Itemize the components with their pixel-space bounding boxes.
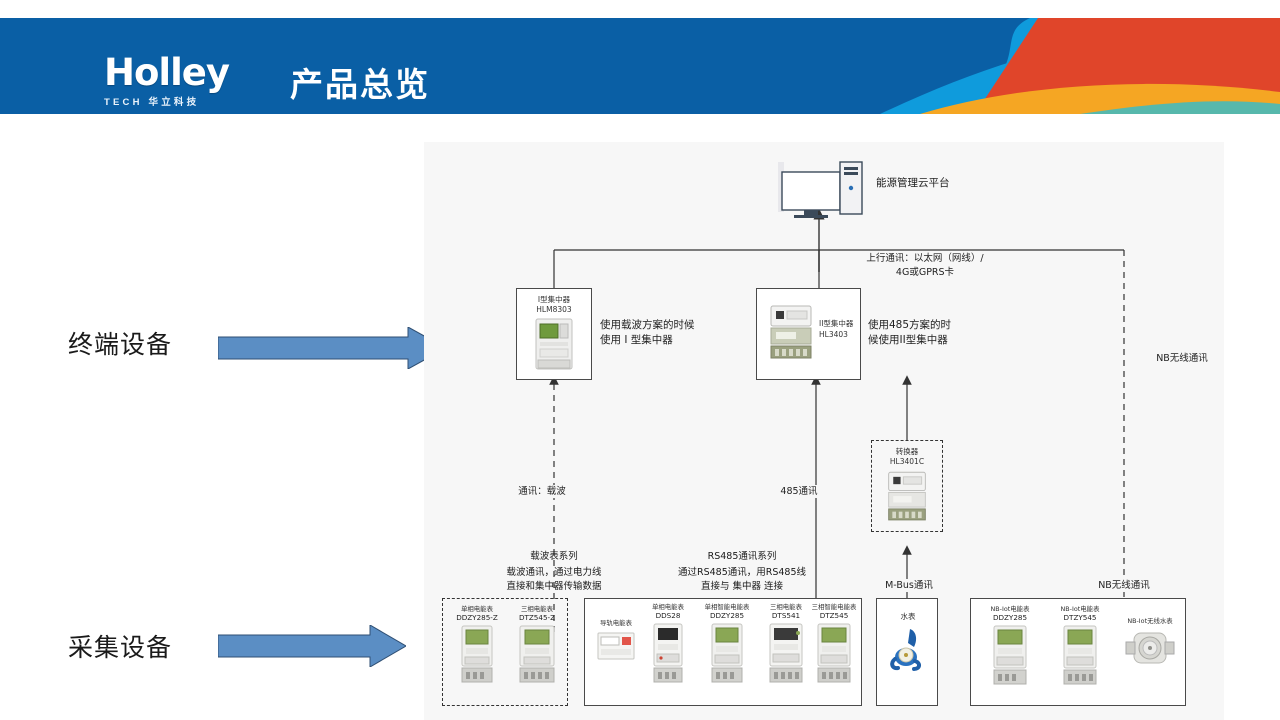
meter-model: DDZY285	[695, 611, 759, 620]
slide-root: Holley TECH 华立科技 产品总览 终端设备 采集设备	[0, 0, 1280, 720]
concentrator-1-name: I型集中器	[517, 295, 591, 305]
single-phase-meter-icon	[460, 624, 494, 684]
meter-model: DTZ545-Z	[509, 613, 565, 622]
meter-name: NB-Iot电能表	[977, 605, 1043, 613]
concentrator-2-device-icon	[767, 304, 815, 362]
concentrator-1-device-icon	[532, 317, 576, 373]
side-label-collection-equipment: 采集设备	[68, 628, 172, 664]
meter-item: 单相电能表 DDZY285-Z	[449, 605, 505, 689]
converter-model: HL3401C	[872, 457, 942, 467]
converter-device-icon	[885, 469, 929, 525]
smart-three-phase-meter-icon	[816, 622, 852, 684]
meter-name: 单相电能表	[449, 605, 505, 613]
nb-single-phase-meter-icon	[992, 624, 1028, 686]
concentrator-2-name: II型集中器	[819, 319, 853, 329]
concentrator-1-model: HLM8303	[517, 305, 591, 315]
rs485-group-title-2: 直接与 集中器 连接	[602, 580, 882, 593]
concentrator-2-caption-line1: 使用485方案的时	[868, 318, 951, 333]
meter-model: DTZ545	[807, 611, 861, 620]
single-phase-meter-icon	[652, 622, 684, 684]
logo-wordmark: Holley	[104, 54, 274, 91]
cloud-platform-label: 能源管理云平台	[876, 176, 950, 191]
meter-item: 水表	[877, 613, 939, 682]
meter-name: 三相智能电能表	[807, 603, 861, 611]
meter-item: 三相电能表 DTZ545-Z	[509, 605, 565, 689]
din-rail-meter-icon	[596, 629, 636, 663]
meter-model: DDZY285-Z	[449, 613, 505, 622]
rs485-group-title-0: RS485通讯系列	[602, 550, 882, 563]
meter-name: 单相电能表	[641, 603, 695, 611]
meter-name: 导轨电能表	[589, 619, 643, 627]
node-concentrator-type-2: II型集中器 HL3403	[756, 288, 861, 380]
arrow-collection-equipment	[218, 625, 406, 672]
uplink-label-line1: 上行通讯：以太网（网线）/	[830, 252, 1020, 265]
header-swoosh-decoration	[760, 18, 1280, 114]
slide-header: Holley TECH 华立科技 产品总览	[0, 18, 1280, 114]
meter-name: 三相电能表	[761, 603, 811, 611]
nb-water-meter-icon	[1124, 627, 1176, 673]
edge-label-carrier: 通讯：载波	[486, 485, 598, 498]
architecture-diagram: 能源管理云平台 上行通讯：以太网（网线）/ 4G或GPRS卡 I型集中器 HLM…	[424, 142, 1224, 720]
group-carrier-meters: 单相电能表 DDZY285-Z 三相电能表 DTZ545-Z	[442, 598, 568, 706]
group-mbus-meters: 水表	[876, 598, 938, 706]
cloud-platform-icon	[776, 160, 866, 227]
meter-item: 三相智能电能表 DTZ545	[807, 603, 861, 689]
rs485-group-title-1: 通过RS485通讯，用RS485线	[602, 566, 882, 579]
meter-model: DTZY545	[1047, 613, 1113, 622]
meter-item: NB-Iot电能表 DDZY285	[977, 605, 1043, 691]
concentrator-2-model: HL3403	[819, 330, 848, 340]
meter-name: NB-Iot无线水表	[1117, 617, 1183, 625]
concentrator-2-caption-line2: 候使用II型集中器	[868, 333, 948, 348]
meter-model: DDS28	[641, 611, 695, 620]
edge-label-nb-right: NB无线通讯	[1130, 352, 1234, 365]
meter-name: NB-Iot电能表	[1047, 605, 1113, 613]
meter-name: 水表	[877, 613, 939, 621]
meter-item: 单相电能表 DDS28	[641, 603, 695, 689]
converter-name: 转换器	[872, 447, 942, 457]
meter-item: 导轨电能表	[589, 619, 643, 668]
three-phase-meter-icon	[518, 624, 556, 684]
side-label-terminal-equipment: 终端设备	[68, 325, 172, 361]
meter-name: 单相智能电能表	[695, 603, 759, 611]
meter-model: DDZY285	[977, 613, 1043, 622]
meter-item: NB-Iot电能表 DTZY545	[1047, 605, 1113, 691]
arrow-terminal-equipment	[218, 327, 446, 374]
node-concentrator-type-1: I型集中器 HLM8303	[516, 288, 592, 380]
meter-model: DTS541	[761, 611, 811, 620]
group-rs485-meters: 导轨电能表 单相电能表 DDS28	[584, 598, 862, 706]
smart-single-phase-meter-icon	[710, 622, 744, 684]
meter-item: 单相智能电能表 DDZY285	[695, 603, 759, 689]
meter-name: 三相电能表	[509, 605, 565, 613]
node-converter: 转换器 HL3401C	[871, 440, 943, 532]
concentrator-1-caption-line2: 使用 I 型集中器	[600, 333, 673, 348]
meter-item: 三相电能表 DTS541	[761, 603, 811, 689]
meter-item: NB-Iot无线水表	[1117, 617, 1183, 678]
three-phase-meter-icon	[768, 622, 804, 684]
concentrator-1-caption-line1: 使用载波方案的时候	[600, 318, 695, 333]
logo-tagline: TECH 华立科技	[104, 94, 274, 108]
water-meter-icon	[886, 623, 930, 677]
uplink-label-line2: 4G或GPRS卡	[830, 266, 1020, 279]
edge-label-rs485: 485通讯	[754, 485, 844, 498]
nb-three-phase-meter-icon	[1062, 624, 1098, 686]
group-nb-meters: NB-Iot电能表 DDZY285 NB-Iot电能表 DTZY545	[970, 598, 1186, 706]
page-title: 产品总览	[290, 58, 430, 106]
edge-label-nb-bottom: NB无线通讯	[1072, 579, 1176, 592]
holley-logo: Holley TECH 华立科技	[104, 54, 274, 106]
